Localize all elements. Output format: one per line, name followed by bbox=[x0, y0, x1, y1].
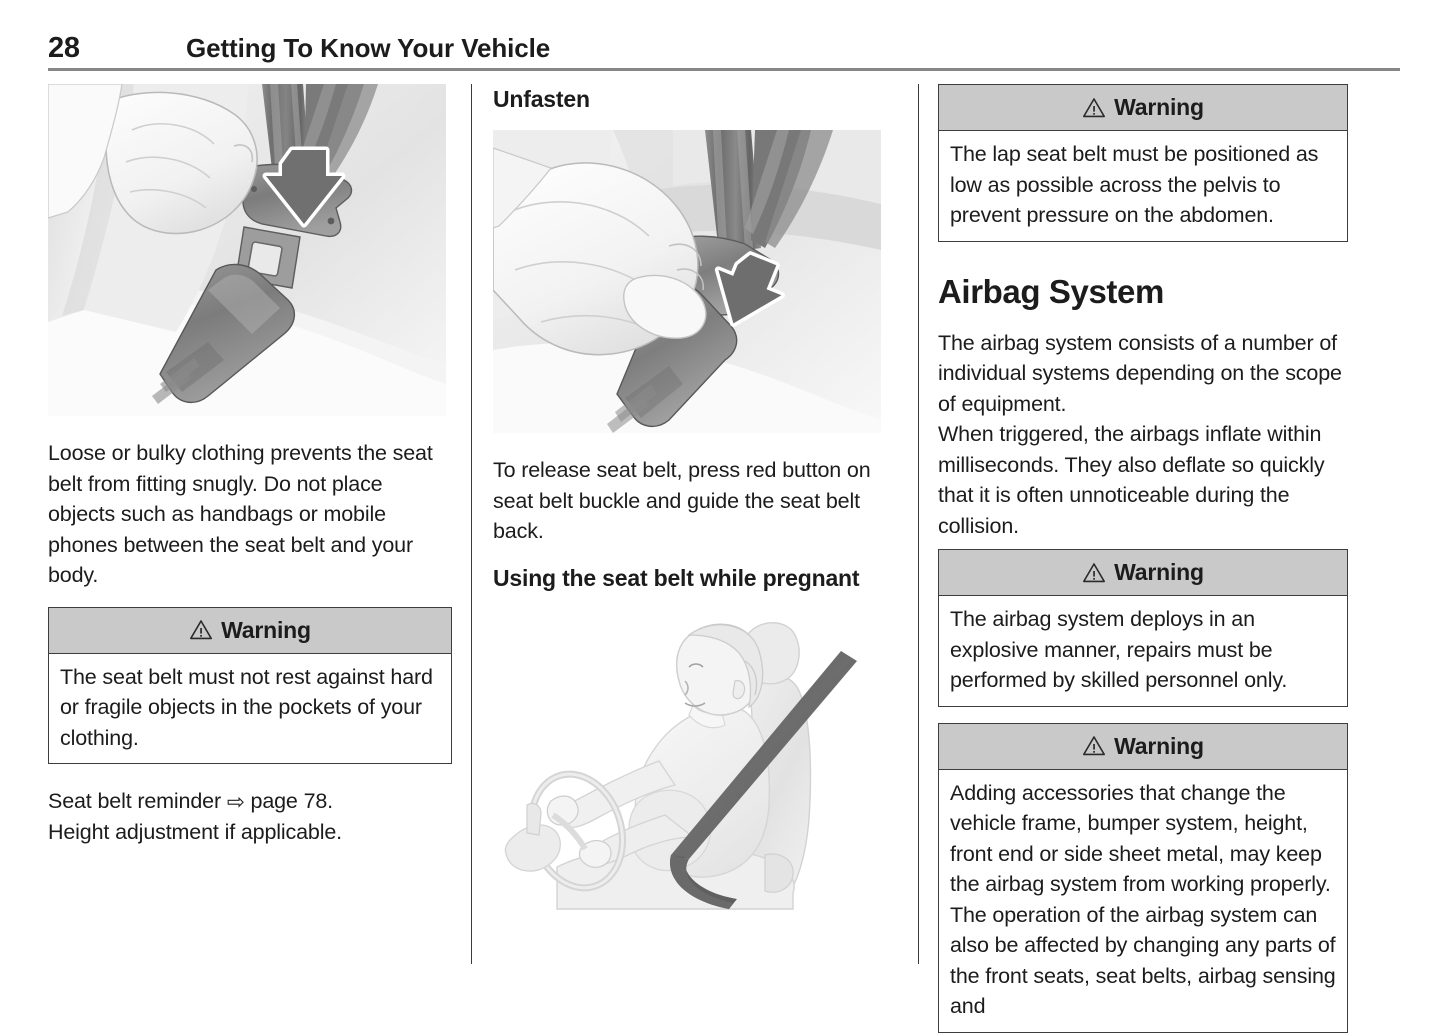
warning-label: Warning bbox=[1114, 93, 1204, 121]
warning-triangle-icon bbox=[1082, 735, 1106, 756]
airbag-paragraph-two: When triggered, the airbags inflate with… bbox=[938, 419, 1348, 541]
column-two-paragraph: To release seat belt, press red button o… bbox=[493, 455, 891, 547]
height-adjustment-note: Height adjustment if applicable. bbox=[48, 820, 342, 844]
column-three: Warning The lap seat belt must be positi… bbox=[938, 84, 1348, 1033]
warning-box-accessories: Warning Adding accessories that change t… bbox=[938, 723, 1348, 1033]
chapter-title: Getting To Know Your Vehicle bbox=[186, 30, 550, 66]
pregnant-seat-belt-heading: Using the seat belt while pregnant bbox=[493, 563, 891, 593]
column-one-paragraph: Loose or bulky clothing prevents the sea… bbox=[48, 438, 452, 591]
page-header: 28 Getting To Know Your Vehicle bbox=[48, 30, 1400, 72]
cross-reference-block: Seat belt reminder ⇨ page 78. Height adj… bbox=[48, 786, 452, 847]
warning-box-airbag-deployment: Warning The airbag system deploys in an … bbox=[938, 549, 1348, 707]
seat-belt-fasten-illustration bbox=[48, 84, 446, 416]
warning-text: Adding accessories that change the vehic… bbox=[939, 770, 1347, 1032]
cross-reference-label: Seat belt reminder bbox=[48, 789, 221, 813]
cross-reference-page: page 78. bbox=[251, 789, 334, 813]
warning-triangle-icon bbox=[189, 619, 213, 640]
warning-triangle-icon bbox=[1082, 97, 1106, 118]
column-divider-left bbox=[471, 84, 472, 964]
warning-header: Warning bbox=[939, 85, 1347, 131]
column-two: Unfasten bbox=[493, 84, 891, 922]
warning-header: Warning bbox=[939, 724, 1347, 770]
pregnant-driver-seat-belt-illustration bbox=[493, 609, 881, 922]
airbag-system-heading: Airbag System bbox=[938, 272, 1348, 312]
warning-header: Warning bbox=[939, 550, 1347, 596]
warning-box-lap-belt-position: Warning The lap seat belt must be positi… bbox=[938, 84, 1348, 242]
warning-label: Warning bbox=[221, 616, 311, 644]
airbag-paragraph-one: The airbag system consists of a number o… bbox=[938, 328, 1348, 420]
column-one: Loose or bulky clothing prevents the sea… bbox=[48, 84, 452, 847]
warning-label: Warning bbox=[1114, 732, 1204, 760]
seat-belt-unfasten-illustration bbox=[493, 130, 881, 433]
column-divider-right bbox=[918, 84, 919, 964]
warning-triangle-icon bbox=[1082, 562, 1106, 583]
warning-box-seat-belt-objects: Warning The seat belt must not rest agai… bbox=[48, 607, 452, 765]
header-rule bbox=[48, 68, 1400, 71]
warning-header: Warning bbox=[49, 608, 451, 654]
warning-text: The airbag system deploys in an explosiv… bbox=[939, 596, 1347, 706]
warning-text: The lap seat belt must be positioned as … bbox=[939, 131, 1347, 241]
unfasten-heading: Unfasten bbox=[493, 84, 891, 114]
page-reference-arrow-icon: ⇨ bbox=[227, 787, 245, 818]
warning-text: The seat belt must not rest against hard… bbox=[49, 654, 451, 764]
warning-label: Warning bbox=[1114, 558, 1204, 586]
page-number: 28 bbox=[48, 30, 80, 66]
